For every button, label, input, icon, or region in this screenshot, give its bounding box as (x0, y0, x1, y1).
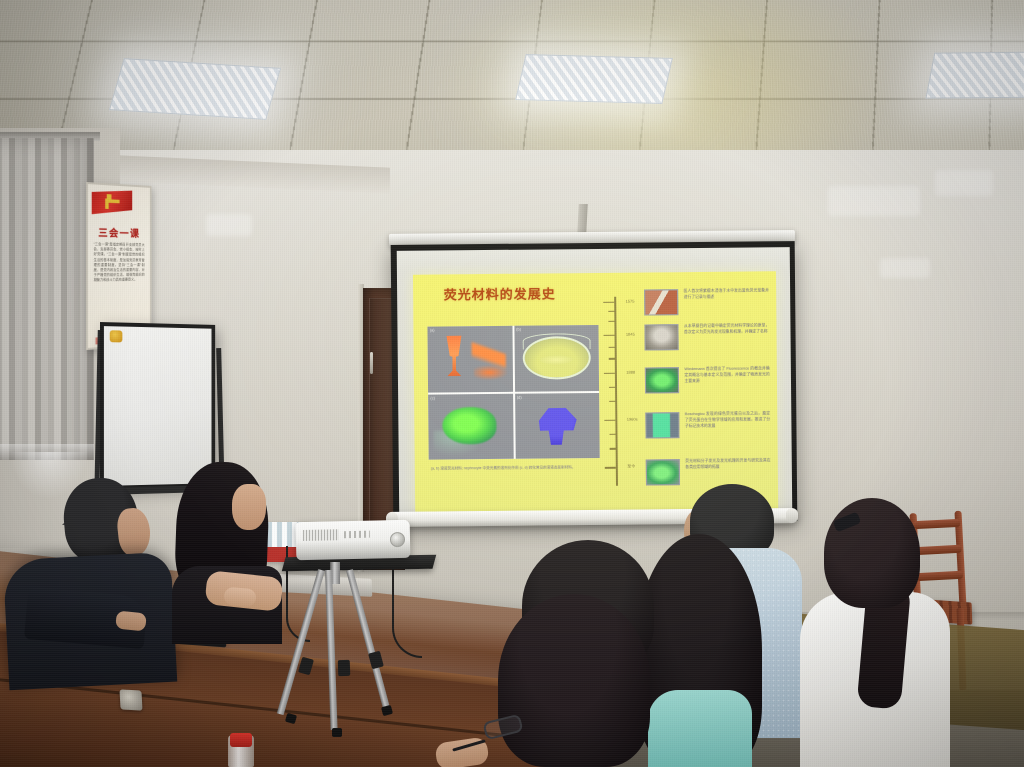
conference-room-photo: 三会一课 “三会一课”是指定期召开支部党员大会、支部委员会、党小组会，按时上好党… (0, 0, 1024, 767)
chair-slat (914, 519, 960, 529)
timeline-thumb-scientist-portrait (644, 324, 678, 350)
timeline-entry-text: 医人首次将紫檀木浸泡于水中发出蓝色荧光现象并进行了记录与描述 (684, 287, 769, 300)
timeline-thumb-green-fluorescence (644, 367, 678, 393)
timeline-year: 1960s (627, 417, 638, 422)
petri-dish-liquid (540, 355, 573, 365)
timeline-entry-text: Wiedemann 首次提出了 Fluorescence 的概念并确定其概念与基… (684, 365, 769, 384)
whiteboard[interactable] (100, 322, 215, 490)
image-tag-a: (a) (430, 328, 435, 333)
table-lock-hardware (119, 689, 142, 710)
timeline-entry: Boschoglou 发现的绿色荧光蛋白以及之后，奠定了荧光蛋白在生物学领域的应… (645, 411, 772, 412)
screen-ceiling-bracket (577, 204, 588, 234)
timeline-year: 1888 (626, 369, 635, 374)
timeline-entry: 医人首次将紫檀木浸泡于水中发出蓝色荧光现象并进行了记录与描述 (644, 288, 771, 289)
timeline-tick (609, 434, 616, 435)
window-curtain[interactable] (0, 138, 94, 460)
tripod-leg-lock[interactable] (338, 660, 351, 676)
audience-head-front (498, 594, 650, 767)
timeline-year: 1575 (626, 298, 635, 303)
projector-buttons[interactable] (344, 531, 370, 539)
woman-ponytail-head (824, 498, 920, 608)
timeline-tick (603, 301, 614, 302)
audience-teal-shirt (648, 690, 752, 767)
image-tag-b: (b) (516, 327, 521, 332)
image-tag-c: (c) (430, 395, 435, 400)
slide-caption: (a, b) 溶液荧光材料; nephrocyte 中荧光素的溶剂化作用 (c,… (431, 464, 606, 472)
woman-long-hair-left-hand (223, 587, 256, 608)
timeline-tick (609, 448, 616, 449)
timeline-tick (604, 335, 615, 336)
slide-image-b: (b) (514, 325, 599, 391)
timeline-tick (604, 372, 615, 373)
timeline-entry-text: Boschoglou 发现的绿色荧光蛋白以及之后，奠定了荧光蛋白在生物学领域的应… (685, 410, 770, 429)
timeline-thumb-fluorescent-cell (645, 459, 679, 485)
timeline-tick (608, 320, 615, 321)
poster-body-text: “三会一课”是指定期召开支部党员大会、支部委员会、党小组会，按时上好党课。“三会… (94, 242, 145, 333)
ceiling-panel-light-1 (109, 58, 281, 120)
wall-patch (828, 186, 920, 216)
man-in-dark-suit-hand (115, 610, 147, 631)
chair-slat (915, 545, 961, 555)
slide-image-d: (d) (515, 393, 600, 459)
timeline-tick (609, 387, 616, 388)
timeline-tick (609, 401, 616, 402)
projector-vent (303, 529, 339, 541)
chair-slat (917, 571, 963, 581)
screen-bar-end-right (786, 508, 798, 523)
timeline-axis (615, 297, 618, 486)
ceiling-panel-light-3 (925, 51, 1024, 98)
timeline-entry: 从本草纲目的记载中确定荧光材料学理论的原型，首次定义为荧光的发光现象和机理，并确… (644, 324, 771, 325)
poster-title: 三会一课 (88, 224, 150, 240)
orange-puddle-shape (474, 365, 508, 380)
timeline-entry-text: 荧光材料分子发光及发光机理的开发与研究及其在各类应用领域的拓展 (685, 458, 770, 471)
wall-patch (206, 214, 252, 236)
whiteboard-magnet-icon[interactable] (110, 330, 123, 342)
projector-device[interactable] (296, 520, 411, 560)
petri-dish-rim (523, 333, 591, 349)
blue-mushroom-shape (530, 404, 584, 446)
timeline-tick (605, 420, 616, 421)
tripod-foot (332, 728, 342, 737)
timeline-entry-text: 从本草纲目的记载中确定荧光材料学理论的原型，首次定义为荧光的发光现象和机理，并确… (684, 323, 769, 336)
presentation-slide: 荧光材料的发展史 (a) (b) (413, 271, 779, 511)
door-handle[interactable] (370, 352, 373, 374)
slide-image-grid: (a) (b) (c) (428, 325, 600, 459)
wall-patch (935, 170, 993, 196)
timeline-tick (605, 467, 616, 468)
wall-patch (880, 258, 930, 278)
slide-image-a: (a) (428, 326, 513, 392)
timeline-thumb-wood-bark (644, 289, 678, 315)
woman-long-hair-left-face (232, 484, 266, 530)
projector-lens-icon (390, 532, 405, 547)
orange-glass-shape (443, 336, 465, 377)
slide-title: 荧光材料的发展史 (444, 283, 556, 303)
ceiling-panel-light-2 (515, 54, 673, 104)
image-tag-d: (d) (517, 394, 522, 399)
slide-image-c: (c) (428, 393, 513, 459)
timeline-year: 至今 (627, 464, 635, 470)
timeline-thumb-blue-strip (645, 412, 679, 438)
green-jellyfish-shape (442, 407, 496, 445)
projection-screen: 荧光材料的发展史 (a) (b) (391, 241, 798, 525)
timeline-year: 1845 (626, 331, 635, 336)
timeline-entry: Wiedemann 首次提出了 Fluorescence 的概念并确定其概念与基… (644, 366, 771, 367)
timeline-entry: 荧光材料分子发光及发光机理的开发与研究及其在各类应用领域的拓展 (645, 458, 772, 459)
timeline-tick (608, 358, 615, 359)
timeline-tick (608, 311, 615, 312)
water-bottle-cap[interactable] (230, 733, 252, 747)
timeline-tick (608, 346, 615, 347)
screen-surface: 荧光材料的发展史 (a) (b) (397, 247, 793, 520)
